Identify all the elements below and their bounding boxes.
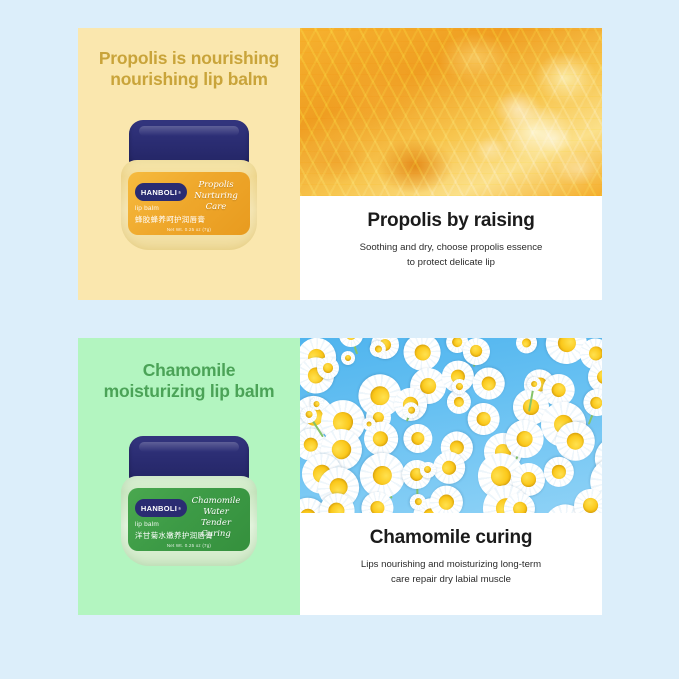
jar-script-name: Propolis Nurturing Care [187,180,245,213]
jar-sub-label: lip balm [135,521,159,528]
panel-heading-chamomile: Chamomile moisturizing lip balm [86,360,292,403]
caption-line-1: Lips nourishing and moisturizing long-te… [326,558,576,573]
panel-heading-propolis: Propolis is nourishing nourishing lip ba… [86,48,292,91]
brand-badge: HANBOLI® [135,183,187,201]
caption-title: Chamomile curing [300,527,602,549]
product-panel-propolis: Propolis is nourishing nourishing lip ba… [78,28,602,300]
jar-sub-label: lip balm [135,205,159,212]
caption-chamomile: Chamomile curing Lips nourishing and moi… [300,513,602,615]
caption-line-2: to protect delicate lip [326,256,576,271]
jar-net-weight: Net Wt. 0.25 oz (7g) [128,543,250,548]
daisy-core [552,465,566,479]
daisy-flower [335,338,368,352]
product-jar-propolis: HANBOLI® Propolis Nurturing Care lip bal… [121,120,257,250]
script-line-2: Nurturing Care [187,191,245,213]
heading-line-1: Propolis is nourishing [86,48,292,69]
caption-body: Lips nourishing and moisturizing long-te… [300,558,602,588]
caption-line-1: Soothing and dry, choose propolis essenc… [326,241,576,256]
content-side-propolis: Propolis by raising Soothing and dry, ch… [300,28,602,300]
daisy-flower [469,363,510,404]
heading-line-2: moisturizing lip balm [86,381,292,402]
daisy-core [370,500,385,513]
script-line-2: Water Tender [187,507,245,529]
daisy-flower [402,423,434,455]
heading-line-2: nourishing lip balm [86,69,292,90]
caption-body: Soothing and dry, choose propolis essenc… [300,241,602,271]
caption-propolis: Propolis by raising Soothing and dry, ch… [300,196,602,300]
jar-chinese-label: 蜂胶蜂养呵护润唇膏 [135,214,205,225]
product-jar-chamomile: HANBOLI® Chamomile Water Tender Curing l… [121,436,257,566]
daisy-field-texture [300,338,602,513]
jar-body: HANBOLI® Chamomile Water Tender Curing l… [121,476,257,566]
brand-badge: HANBOLI® [135,499,187,517]
script-line-1: Chamomile [187,496,245,507]
daisy-flower [543,456,575,488]
registered-mark-icon: ® [178,190,181,195]
jar-net-weight: Net Wt. 0.25 oz (7g) [128,227,250,232]
chamomile-flowers-photo [300,338,602,513]
registered-mark-icon: ® [178,506,181,511]
product-infographic: Propolis is nourishing nourishing lip ba… [0,0,679,679]
heading-line-1: Chamomile [86,360,292,381]
daisy-flower [468,403,501,436]
honeycomb-photo [300,28,602,196]
brand-name: HANBOLI [141,504,177,513]
content-side-chamomile: Chamomile curing Lips nourishing and moi… [300,338,602,615]
jar-label-chamomile: HANBOLI® Chamomile Water Tender Curing l… [128,488,250,551]
product-side-propolis: Propolis is nourishing nourishing lip ba… [78,28,300,300]
daisy-flower [515,338,540,355]
brand-name: HANBOLI [141,188,177,197]
daisy-flower [505,419,544,458]
honeycomb-texture [300,28,602,196]
daisy-flower [339,349,356,366]
product-side-chamomile: Chamomile moisturizing lip balm HANBOLI®… [78,338,300,615]
jar-body: HANBOLI® Propolis Nurturing Care lip bal… [121,160,257,250]
jar-label-propolis: HANBOLI® Propolis Nurturing Care lip bal… [128,172,250,235]
jar-chinese-label: 洋甘菊水嫩养护润唇膏 [135,530,213,541]
caption-line-2: care repair dry labial muscle [326,573,576,588]
caption-title: Propolis by raising [300,210,602,232]
product-panel-chamomile: Chamomile moisturizing lip balm HANBOLI®… [78,338,602,615]
script-line-1: Propolis [187,180,245,191]
